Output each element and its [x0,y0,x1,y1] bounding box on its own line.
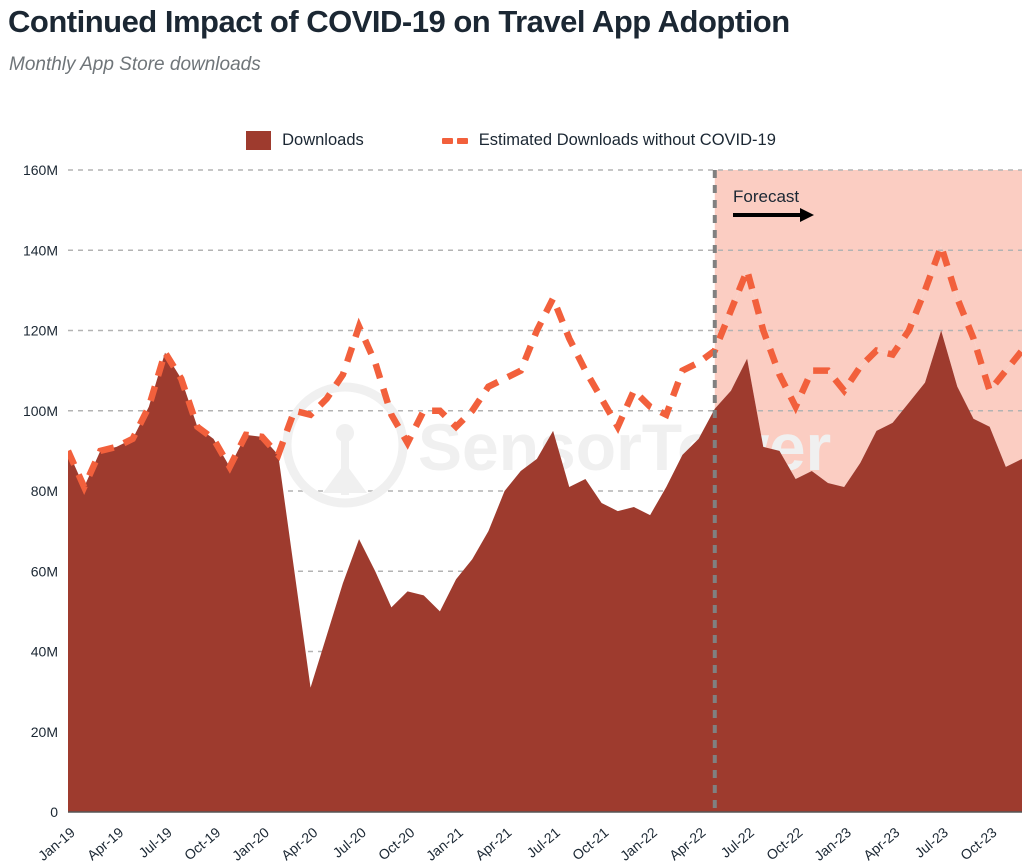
x-axis-tick-label: Jul-19 [135,824,175,861]
y-axis-tick-label: 0 [50,804,58,820]
x-axis-tick-label: Oct-20 [375,824,418,863]
x-axis-tick-label: Oct-21 [569,824,612,863]
y-axis-tick-label: 100M [23,403,58,419]
chart-svg: SensorTower Forecast 020M40M60M80M100M12… [0,0,1022,868]
x-axis-tick-label: Apr-22 [666,824,709,863]
x-axis-tick-label: Jul-20 [329,824,369,861]
sensor-tower-logo-icon [287,387,403,503]
y-axis-ticks: 020M40M60M80M100M120M140M160M [23,162,58,820]
x-axis-tick-label: Apr-19 [84,824,127,863]
forecast-label: Forecast [733,187,799,206]
x-axis-tick-label: Oct-23 [957,824,1000,863]
x-axis-tick-label: Jan-23 [811,824,854,864]
y-axis-tick-label: 120M [23,323,58,339]
x-axis-tick-label: Jan-19 [35,824,78,864]
y-axis-tick-label: 140M [23,242,58,258]
x-axis-tick-label: Apr-23 [860,824,903,863]
x-axis-tick-label: Jul-23 [912,824,952,861]
x-axis-tick-label: Apr-20 [278,824,321,863]
y-axis-tick-label: 160M [23,162,58,178]
chart-plot-area: SensorTower Forecast 020M40M60M80M100M12… [0,0,1022,868]
x-axis-tick-label: Oct-19 [181,824,224,863]
y-axis-tick-label: 20M [31,724,58,740]
x-axis-tick-label: Jul-21 [524,824,564,861]
x-axis-tick-label: Jan-21 [423,824,466,864]
x-axis-tick-label: Oct-22 [763,824,806,863]
x-axis-tick-label: Jan-22 [617,824,660,864]
y-axis-tick-label: 40M [31,644,58,660]
x-axis-tick-label: Apr-21 [472,824,515,863]
x-axis-ticks: Jan-19Apr-19Jul-19Oct-19Jan-20Apr-20Jul-… [35,824,1000,864]
x-axis-tick-label: Jan-20 [229,824,272,864]
y-axis-tick-label: 60M [31,563,58,579]
x-axis-tick-label: Jul-22 [718,824,758,861]
y-axis-tick-label: 80M [31,483,58,499]
